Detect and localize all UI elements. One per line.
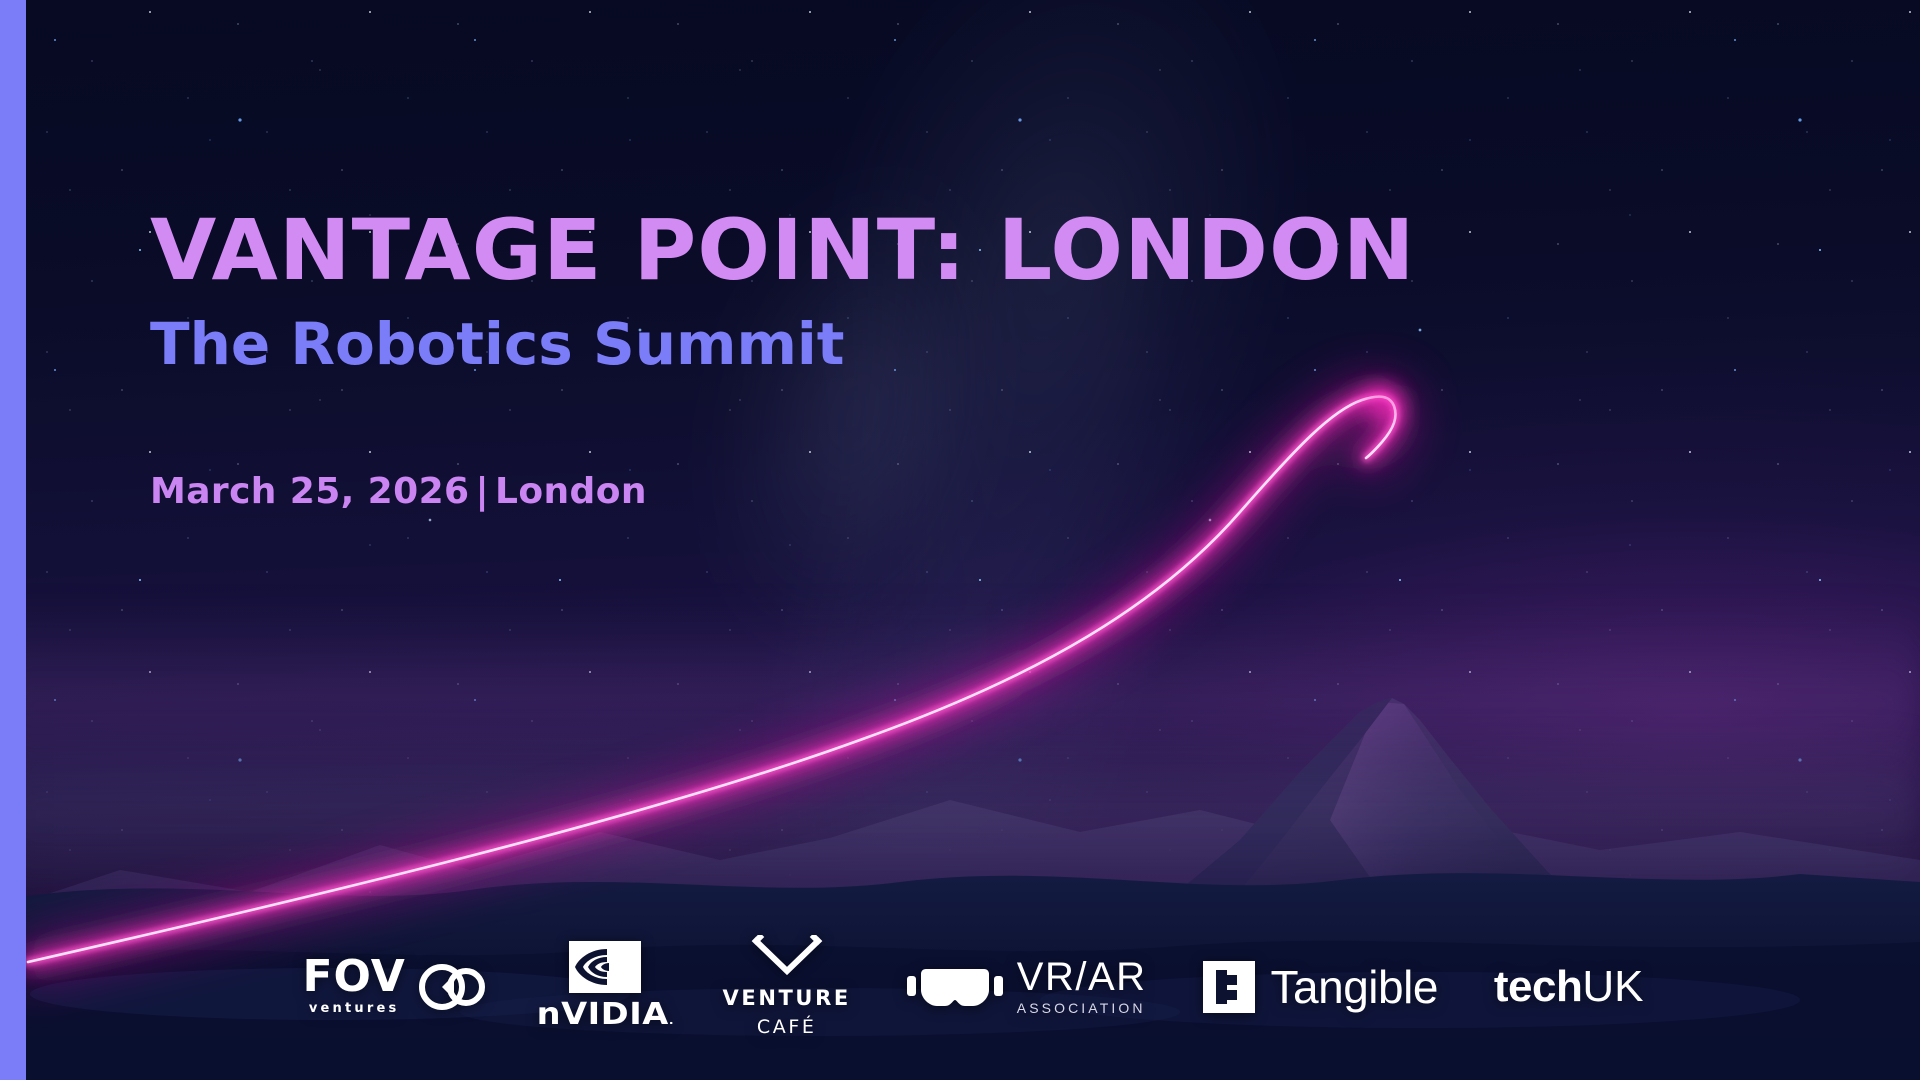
left-accent-bar: [0, 0, 26, 1080]
fov-subwordmark: ventures: [309, 1001, 400, 1016]
sponsor-logo-techuk[interactable]: techUK: [1494, 962, 1644, 1012]
venture-cafe-subwordmark: CAFÉ: [757, 1016, 817, 1038]
event-poster: VANTAGE POINT: LONDON The Robotics Summi…: [0, 0, 1920, 1080]
nvidia-registered-mark: .: [669, 1014, 674, 1027]
page-subtitle: The Robotics Summit: [150, 314, 1450, 375]
chevron-v-outline-icon: [748, 935, 826, 981]
hero-copy-block: VANTAGE POINT: LONDON The Robotics Summi…: [150, 0, 1450, 512]
sponsor-logo-fov-ventures[interactable]: FOV ventures: [302, 955, 487, 1019]
techuk-wordmark-bold: tech: [1494, 962, 1582, 1012]
interlocking-rings-icon: [414, 955, 488, 1019]
sponsor-logo-nvidia[interactable]: nVIDIA.: [544, 941, 667, 1032]
nvidia-eye-icon: [569, 941, 641, 993]
meta-separator: |: [469, 471, 495, 512]
sponsor-logo-vrar-association[interactable]: VR/AR ASSOCIATION: [907, 957, 1147, 1016]
techuk-wordmark-light: UK: [1582, 962, 1643, 1012]
tangible-square-t-icon: [1203, 961, 1255, 1013]
venture-cafe-wordmark: VENTURE: [723, 986, 851, 1010]
vrar-subwordmark: ASSOCIATION: [1017, 1000, 1147, 1016]
page-title: VANTAGE POINT: LONDON: [150, 208, 1476, 292]
sponsor-logo-venture-cafe[interactable]: VENTURE CAFÉ: [723, 935, 851, 1038]
vrar-wordmark: VR/AR: [1017, 957, 1147, 997]
tangible-wordmark: Tangible: [1271, 960, 1438, 1014]
sponsor-logo-row: FOV ventures nVIDIA.: [0, 935, 1920, 1038]
event-date: March 25, 2026: [150, 471, 469, 512]
event-location: London: [495, 471, 647, 512]
fov-wordmark: FOV: [302, 957, 405, 997]
nvidia-wordmark: nVIDIA.: [536, 997, 673, 1032]
sponsor-logo-tangible[interactable]: Tangible: [1203, 960, 1438, 1014]
event-meta: March 25, 2026|London: [150, 471, 1450, 512]
vr-headset-icon: [907, 962, 1003, 1012]
